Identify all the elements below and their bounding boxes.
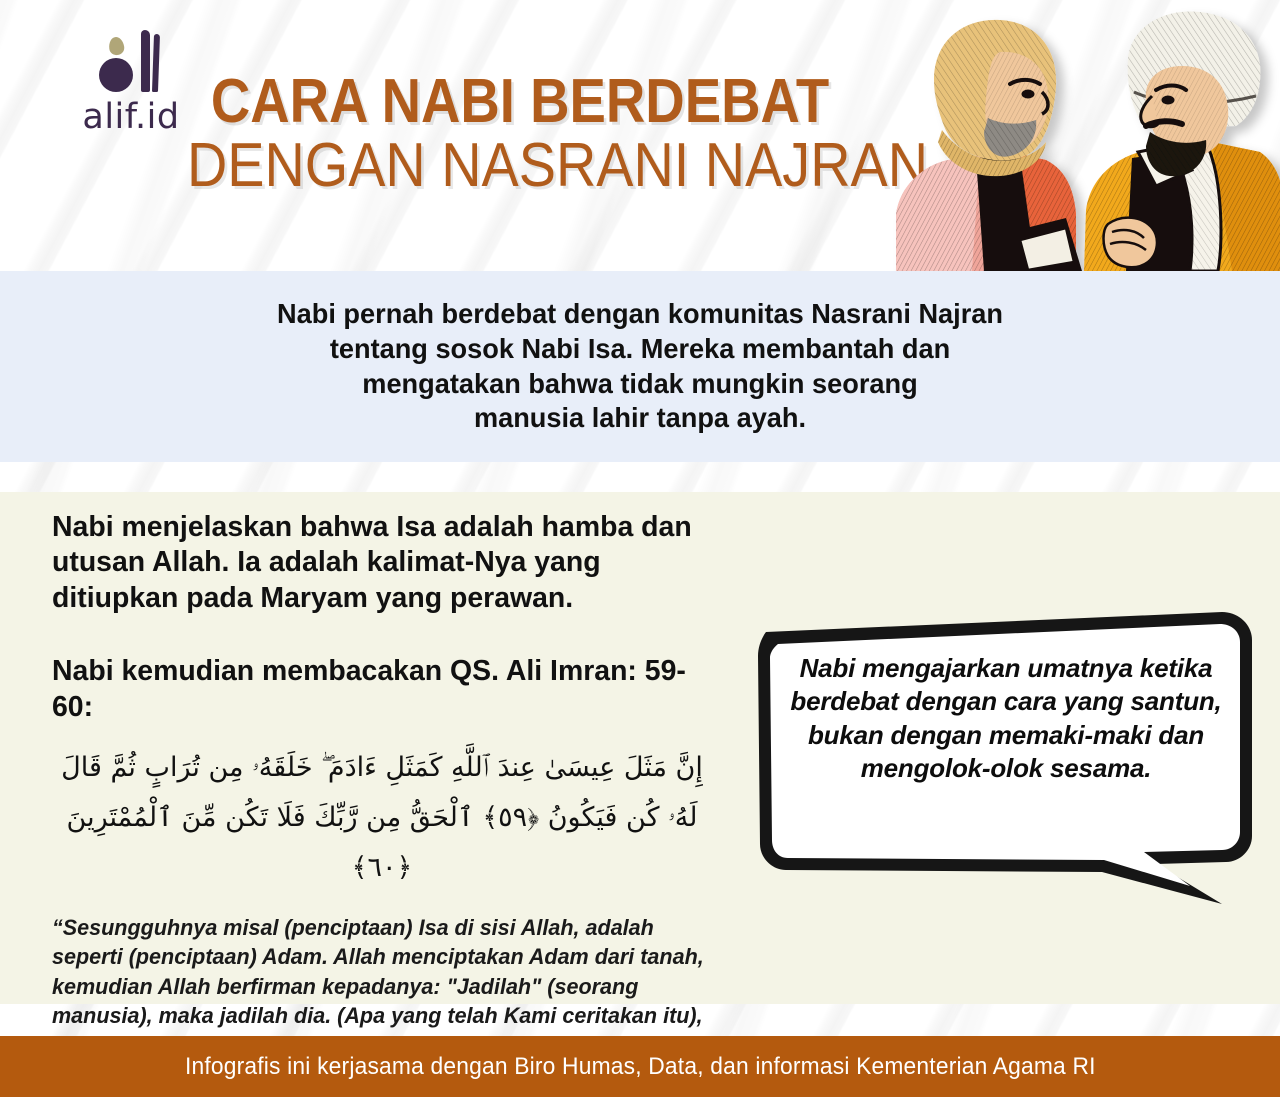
logo-circle-shape	[99, 58, 133, 92]
body-text-column: Nabi menjelaskan bahwa Isa adalah hamba …	[52, 510, 732, 1090]
speech-bubble-text: Nabi mengajarkan umatnya ketika berdebat…	[778, 652, 1234, 785]
logo-alif-stroke-a	[141, 30, 150, 92]
logo-drop-shape	[108, 36, 125, 56]
intro-line: manusia lahir tanpa ayah.	[242, 401, 1037, 436]
title-line-2: DENGAN NASRANI NAJRAN	[187, 134, 853, 197]
main-content-panel: Nabi menjelaskan bahwa Isa adalah hamba …	[0, 492, 1280, 1004]
infographic-page: alif.id CARA NABI BERDEBAT DENGAN NASRAN…	[0, 0, 1280, 1097]
title-line-1: CARA NABI BERDEBAT	[194, 72, 845, 132]
footer-credit-text: Infografis ini kerjasama dengan Biro Hum…	[185, 1053, 1096, 1081]
footer-bar: Infografis ini kerjasama dengan Biro Hum…	[0, 1036, 1280, 1097]
intro-line: mengatakan bahwa tidak mungkin seorang	[242, 367, 1037, 402]
arabic-verse: إِنَّ مَثَلَ عِيسَىٰ عِندَ ٱللَّهِ كَمَث…	[52, 743, 712, 893]
page-title: CARA NABI BERDEBAT DENGAN NASRANI NAJRAN	[150, 72, 890, 197]
intro-panel: Nabi pernah berdebat dengan komunitas Na…	[0, 271, 1280, 462]
intro-line: Nabi pernah berdebat dengan komunitas Na…	[242, 297, 1037, 332]
speech-bubble: Nabi mengajarkan umatnya ketika berdebat…	[752, 604, 1260, 904]
two-debating-men-illustration	[860, 0, 1280, 271]
explanation-paragraph: Nabi menjelaskan bahwa Isa adalah hamba …	[52, 510, 718, 616]
header: alif.id CARA NABI BERDEBAT DENGAN NASRAN…	[0, 0, 1280, 271]
intro-text: Nabi pernah berdebat dengan komunitas Na…	[242, 297, 1037, 436]
intro-line: tentang sosok Nabi Isa. Mereka membantah…	[242, 332, 1037, 367]
verse-intro-paragraph: Nabi kemudian membacakan QS. Ali Imran: …	[52, 654, 718, 725]
